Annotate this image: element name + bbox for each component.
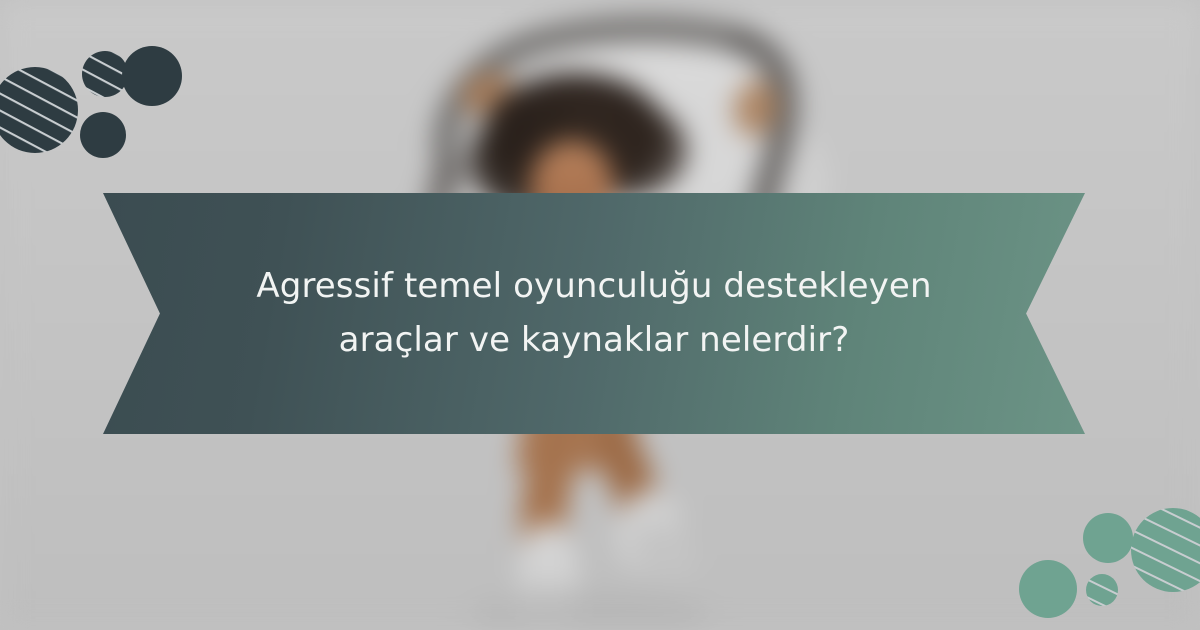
question-line-2: araçlar ve kaynaklar nelerdir? xyxy=(339,320,850,360)
question-ribbon-banner: Agressif temel oyunculuğu destekleyen ar… xyxy=(103,193,1085,434)
question-text: Agressif temel oyunculuğu destekleyen ar… xyxy=(234,259,954,369)
question-line-1: Agressif temel oyunculuğu destekleyen xyxy=(256,266,931,306)
